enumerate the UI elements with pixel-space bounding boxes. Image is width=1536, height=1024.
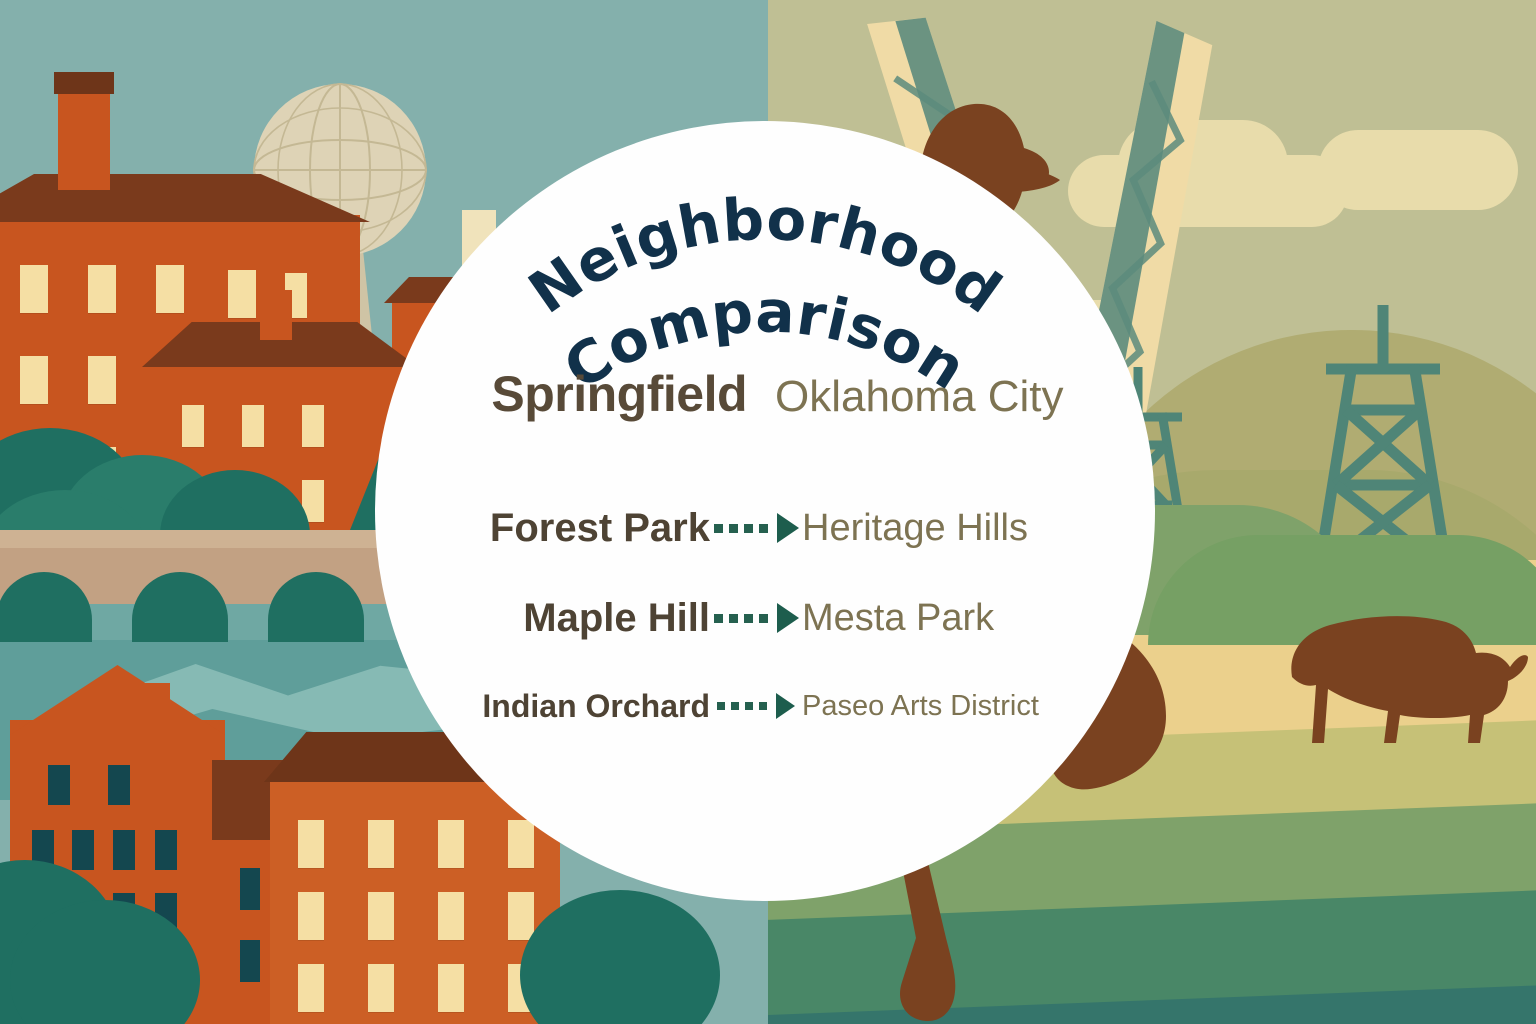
arrow-dot [744, 614, 753, 623]
city-name-left: Springfield [375, 369, 747, 419]
arrow-dot [714, 614, 723, 623]
arrow-dot [759, 702, 767, 710]
comparison-row: Indian Orchard Paseo Arts District [375, 680, 1155, 732]
arrow-dot [731, 702, 739, 710]
arrow-dot [729, 524, 738, 533]
dotted-arrow-right-icon [710, 603, 802, 633]
arrow-dot [745, 702, 753, 710]
city-header-row: Springfield Oklahoma City [375, 369, 1155, 439]
neighborhood-left: Maple Hill [375, 598, 710, 638]
arrow-dot [729, 614, 738, 623]
neighborhood-right: Paseo Arts District [802, 692, 1039, 721]
city-name-right: Oklahoma City [775, 375, 1155, 419]
arrow-dot [714, 524, 723, 533]
cloud [1318, 130, 1518, 210]
arrow-head [777, 513, 799, 543]
comparison-row: Maple Hill Mesta Park [375, 588, 1155, 648]
arrow-head [776, 693, 795, 719]
stone-arch-bridge [0, 530, 400, 650]
arrow-head [777, 603, 799, 633]
arrow-dot [744, 524, 753, 533]
arrow-dot [717, 702, 725, 710]
poster-canvas: Neighborhood Comparison Springfield Okla… [0, 0, 1536, 1024]
arrow-dot [759, 524, 768, 533]
dotted-arrow-right-icon [710, 513, 802, 543]
bison-silhouette-icon [1270, 595, 1530, 765]
neighborhood-right: Heritage Hills [802, 509, 1028, 547]
arrow-dot [759, 614, 768, 623]
dotted-arrow-right-icon [710, 693, 802, 719]
neighborhood-right: Mesta Park [802, 599, 994, 637]
neighborhood-left: Indian Orchard [375, 690, 710, 722]
comparison-row: Forest Park Heritage Hills [375, 498, 1155, 558]
neighborhood-left: Forest Park [375, 508, 710, 548]
